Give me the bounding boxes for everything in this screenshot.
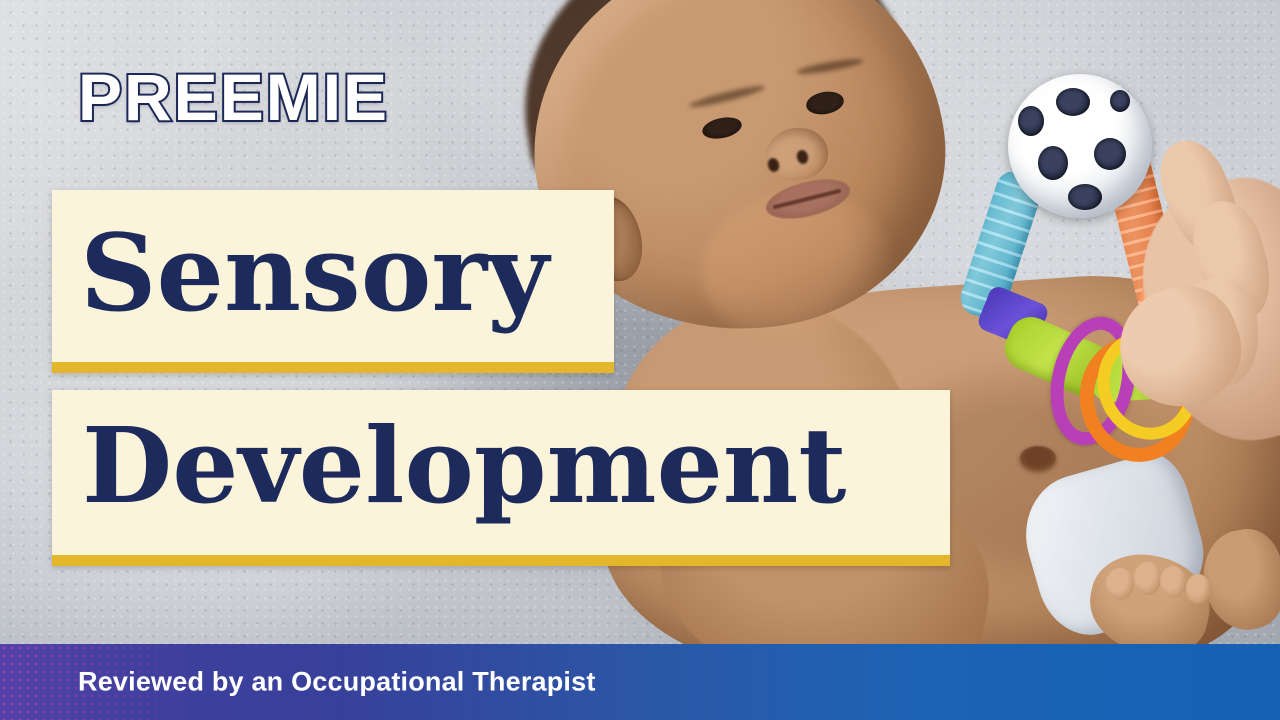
bottom-banner: Reviewed by an Occupational Therapist (0, 644, 1280, 720)
title-line-2-text: Development (82, 414, 846, 518)
kicker-text: PREEMIE (78, 64, 389, 130)
title-card-line-1: Sensory (52, 190, 614, 373)
title-card-line-2: Development (52, 390, 950, 566)
toy-ball-hole (1094, 138, 1126, 170)
title-line-1-text: Sensory (80, 220, 549, 326)
video-thumbnail: PREEMIE Sensory Development Reviewed by … (0, 0, 1280, 720)
gold-accent-bar (52, 555, 950, 566)
toy-ball-hole (1038, 146, 1068, 180)
toy-ball-hole (1068, 184, 1102, 210)
toy-ball-hole (1056, 88, 1090, 116)
toy-ball-hole (1110, 90, 1130, 112)
gold-accent-bar (52, 362, 614, 373)
banner-text: Reviewed by an Occupational Therapist (78, 667, 596, 698)
toy-ball-hole (1018, 106, 1044, 136)
